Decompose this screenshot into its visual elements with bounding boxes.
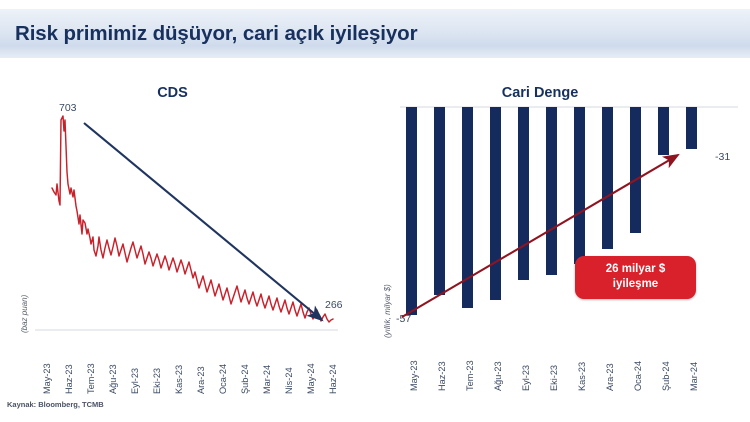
cds-tick: Haz-23 — [64, 364, 74, 394]
cari-tick: Tem-23 — [465, 360, 475, 391]
cari-tick: May-23 — [409, 360, 419, 391]
cds-tick: May-23 — [42, 363, 52, 394]
cds-tick: Tem-23 — [86, 363, 96, 394]
cari-bar-svg — [400, 103, 740, 338]
callout-line-2: iyileşme — [579, 277, 692, 292]
source-note: Kaynak: Bloomberg, TCMB — [7, 400, 104, 409]
cari-tick: Şub-24 — [661, 361, 671, 391]
cds-tick: Nis-24 — [284, 367, 294, 394]
cds-x-tick-labels: May-23 Haz-23 Tem-23 Ağu-23 Eyl-23 Eki-2… — [30, 348, 340, 408]
cds-tick: Eyl-23 — [130, 368, 140, 394]
cari-chart-title: Cari Denge — [375, 85, 705, 101]
cds-tick: Ara-23 — [196, 366, 206, 394]
cari-bar — [658, 107, 669, 155]
cari-bar — [546, 107, 557, 275]
cari-bar — [630, 107, 641, 233]
cds-plot-area — [30, 98, 340, 348]
chart-panel-cari: Cari Denge (yıllık, milyar $) — [375, 58, 750, 422]
cari-start-value-label: -57 — [396, 313, 411, 325]
cds-tick: Haz-24 — [328, 364, 338, 394]
cds-tick: Mar-24 — [262, 365, 272, 394]
cari-bar — [406, 107, 417, 315]
slide-root: Risk primimiz düşüyor, cari açık iyileşi… — [0, 0, 750, 422]
cari-bar — [490, 107, 501, 300]
cds-line-svg — [30, 98, 340, 348]
page-title: Risk primimiz düşüyor, cari açık iyileşi… — [0, 22, 417, 46]
chart-panel-cds: CDS (baz puan) May-23 Haz-23 Tem-23 — [0, 58, 375, 422]
improvement-callout-badge: 26 milyar $ iyileşme — [575, 256, 696, 299]
cari-tick: Ağu-23 — [493, 361, 503, 391]
cds-tick: Eki-23 — [152, 368, 162, 394]
cds-tick: Ağu-23 — [108, 364, 118, 394]
cari-bar — [686, 107, 697, 149]
slide-title-bar: Risk primimiz düşüyor, cari açık iyileşi… — [0, 9, 750, 58]
cari-y-axis-label: (yıllık, milyar $) — [383, 284, 392, 338]
cds-y-axis-label: (baz puan) — [20, 295, 29, 333]
cds-tick: May-24 — [306, 363, 316, 394]
cari-tick: Ara-23 — [605, 363, 615, 391]
cari-bar — [574, 107, 585, 264]
cds-tick: Oca-24 — [218, 364, 228, 394]
callout-line-1: 26 milyar $ — [579, 262, 692, 277]
cds-peak-value-label: 703 — [59, 102, 77, 114]
cari-x-tick-labels: May-23 Haz-23 Tem-23 Ağu-23 Eyl-23 Eki-2… — [400, 341, 740, 401]
cari-plot-area — [400, 103, 740, 338]
cari-bar — [602, 107, 613, 249]
cds-tick: Şub-24 — [240, 364, 250, 394]
cari-tick: Oca-24 — [633, 361, 643, 391]
cari-bar — [518, 107, 529, 280]
cari-tick: Kas-23 — [577, 362, 587, 391]
cari-tick: Eyl-23 — [521, 365, 531, 391]
cari-tick: Eki-23 — [549, 365, 559, 391]
cari-end-value-label: -31 — [715, 151, 730, 163]
cari-tick: Haz-23 — [437, 361, 447, 391]
cds-tick: Kas-23 — [174, 365, 184, 394]
cari-tick: Mar-24 — [689, 362, 699, 391]
cds-trend-arrow — [84, 123, 322, 320]
cari-bar — [434, 107, 445, 295]
cds-end-value-label: 266 — [325, 299, 343, 311]
cds-data-line — [52, 116, 333, 322]
